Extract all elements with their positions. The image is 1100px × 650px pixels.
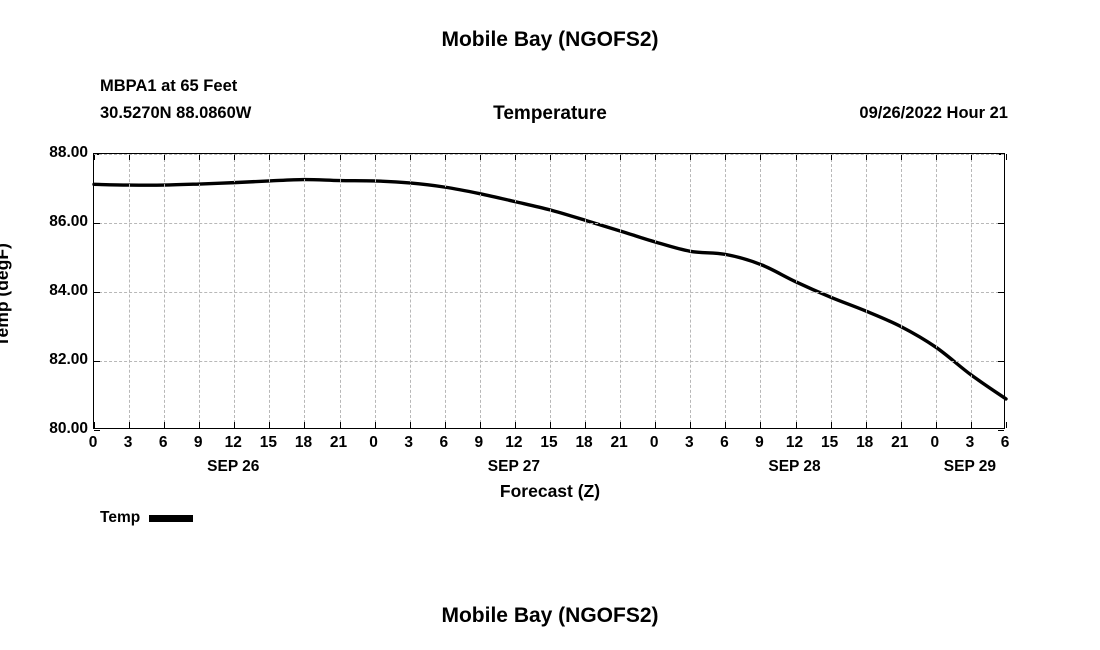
day-label: SEP 29: [910, 458, 1030, 476]
x-tick-label: 6: [709, 434, 739, 452]
x-tick-label: 18: [850, 434, 880, 452]
legend: Temp: [100, 509, 193, 527]
x-tick-bottom: [304, 422, 305, 428]
vertical-gridline: [340, 154, 341, 428]
y-tick-left: [94, 223, 100, 224]
x-tick-bottom: [480, 422, 481, 428]
x-tick-bottom: [725, 422, 726, 428]
horizontal-gridline: [94, 361, 1004, 362]
vertical-gridline: [796, 154, 797, 428]
y-tick-right: [998, 223, 1004, 224]
vertical-gridline: [831, 154, 832, 428]
x-tick-bottom: [375, 422, 376, 428]
x-tick-label: 6: [990, 434, 1020, 452]
x-tick-label: 15: [534, 434, 564, 452]
vertical-gridline: [585, 154, 586, 428]
vertical-gridline: [445, 154, 446, 428]
x-tick-bottom: [515, 422, 516, 428]
station-name-label: MBPA1 at 65 Feet: [100, 77, 237, 96]
legend-item-label: Temp: [100, 509, 140, 527]
vertical-gridline: [866, 154, 867, 428]
x-tick-bottom: [445, 422, 446, 428]
x-tick-label: 9: [744, 434, 774, 452]
y-tick-label: 88.00: [8, 144, 88, 162]
x-tick-label: 3: [955, 434, 985, 452]
vertical-gridline: [620, 154, 621, 428]
vertical-gridline: [480, 154, 481, 428]
x-tick-bottom: [550, 422, 551, 428]
horizontal-gridline: [94, 292, 1004, 293]
page-title-bottom: Mobile Bay (NGOFS2): [0, 604, 1100, 628]
x-tick-label: 6: [429, 434, 459, 452]
x-tick-bottom: [234, 422, 235, 428]
page-title: Mobile Bay (NGOFS2): [0, 28, 1100, 52]
x-tick-bottom: [410, 422, 411, 428]
x-tick-bottom: [340, 422, 341, 428]
x-tick-label: 15: [815, 434, 845, 452]
day-label: SEP 27: [454, 458, 574, 476]
y-tick-left: [94, 361, 100, 362]
vertical-gridline: [725, 154, 726, 428]
vertical-gridline: [304, 154, 305, 428]
plot-area: [93, 153, 1005, 429]
x-tick-bottom: [269, 422, 270, 428]
x-tick-bottom: [760, 422, 761, 428]
x-tick-bottom: [690, 422, 691, 428]
x-tick-label: 3: [394, 434, 424, 452]
x-tick-bottom: [655, 422, 656, 428]
vertical-gridline: [199, 154, 200, 428]
x-tick-bottom: [901, 422, 902, 428]
x-tick-bottom: [796, 422, 797, 428]
x-tick-label: 0: [639, 434, 669, 452]
x-tick-label: 18: [569, 434, 599, 452]
vertical-gridline: [515, 154, 516, 428]
x-tick-label: 0: [78, 434, 108, 452]
x-tick-label: 9: [464, 434, 494, 452]
y-tick-right: [998, 292, 1004, 293]
y-tick-label: 84.00: [8, 282, 88, 300]
x-tick-label: 0: [359, 434, 389, 452]
vertical-gridline: [269, 154, 270, 428]
day-label: SEP 28: [735, 458, 855, 476]
y-tick-label: 82.00: [8, 351, 88, 369]
x-tick-label: 21: [324, 434, 354, 452]
x-tick-bottom: [585, 422, 586, 428]
x-tick-bottom: [94, 422, 95, 428]
horizontal-gridline: [94, 223, 1004, 224]
vertical-gridline: [375, 154, 376, 428]
vertical-gridline: [760, 154, 761, 428]
x-tick-bottom: [620, 422, 621, 428]
chart-page: Mobile Bay (NGOFS2) MBPA1 at 65 Feet 30.…: [0, 0, 1100, 650]
x-tick-label: 21: [885, 434, 915, 452]
vertical-gridline: [550, 154, 551, 428]
legend-item-swatch: [149, 515, 193, 522]
vertical-gridline: [655, 154, 656, 428]
x-tick-label: 9: [183, 434, 213, 452]
x-tick-label: 12: [499, 434, 529, 452]
x-tick-label: 21: [604, 434, 634, 452]
x-tick-label: 18: [288, 434, 318, 452]
vertical-gridline: [129, 154, 130, 428]
x-tick-label: 0: [920, 434, 950, 452]
x-tick-bottom: [1006, 422, 1007, 428]
x-tick-bottom: [866, 422, 867, 428]
vertical-gridline: [901, 154, 902, 428]
x-tick-label: 3: [113, 434, 143, 452]
x-tick-bottom: [936, 422, 937, 428]
x-tick-label: 3: [674, 434, 704, 452]
y-tick-right: [998, 430, 1004, 431]
x-tick-label: 12: [218, 434, 248, 452]
y-tick-label: 86.00: [8, 213, 88, 231]
x-tick-label: 15: [253, 434, 283, 452]
x-tick-bottom: [971, 422, 972, 428]
y-tick-left: [94, 430, 100, 431]
x-tick-bottom: [199, 422, 200, 428]
vertical-gridline: [936, 154, 937, 428]
vertical-gridline: [410, 154, 411, 428]
vertical-gridline: [971, 154, 972, 428]
vertical-gridline: [234, 154, 235, 428]
x-tick-label: 6: [148, 434, 178, 452]
vertical-gridline: [164, 154, 165, 428]
x-tick-label: 12: [780, 434, 810, 452]
y-tick-right: [998, 361, 1004, 362]
top-dashed-line: [94, 154, 1004, 155]
x-tick-top: [1006, 154, 1007, 160]
y-tick-label: 80.00: [8, 420, 88, 438]
x-tick-bottom: [831, 422, 832, 428]
y-tick-left: [94, 292, 100, 293]
day-label: SEP 26: [173, 458, 293, 476]
x-tick-bottom: [164, 422, 165, 428]
x-tick-bottom: [129, 422, 130, 428]
x-axis-title: Forecast (Z): [0, 481, 1100, 502]
vertical-gridline: [690, 154, 691, 428]
forecast-run-time-label: 09/26/2022 Hour 21: [859, 104, 1008, 123]
